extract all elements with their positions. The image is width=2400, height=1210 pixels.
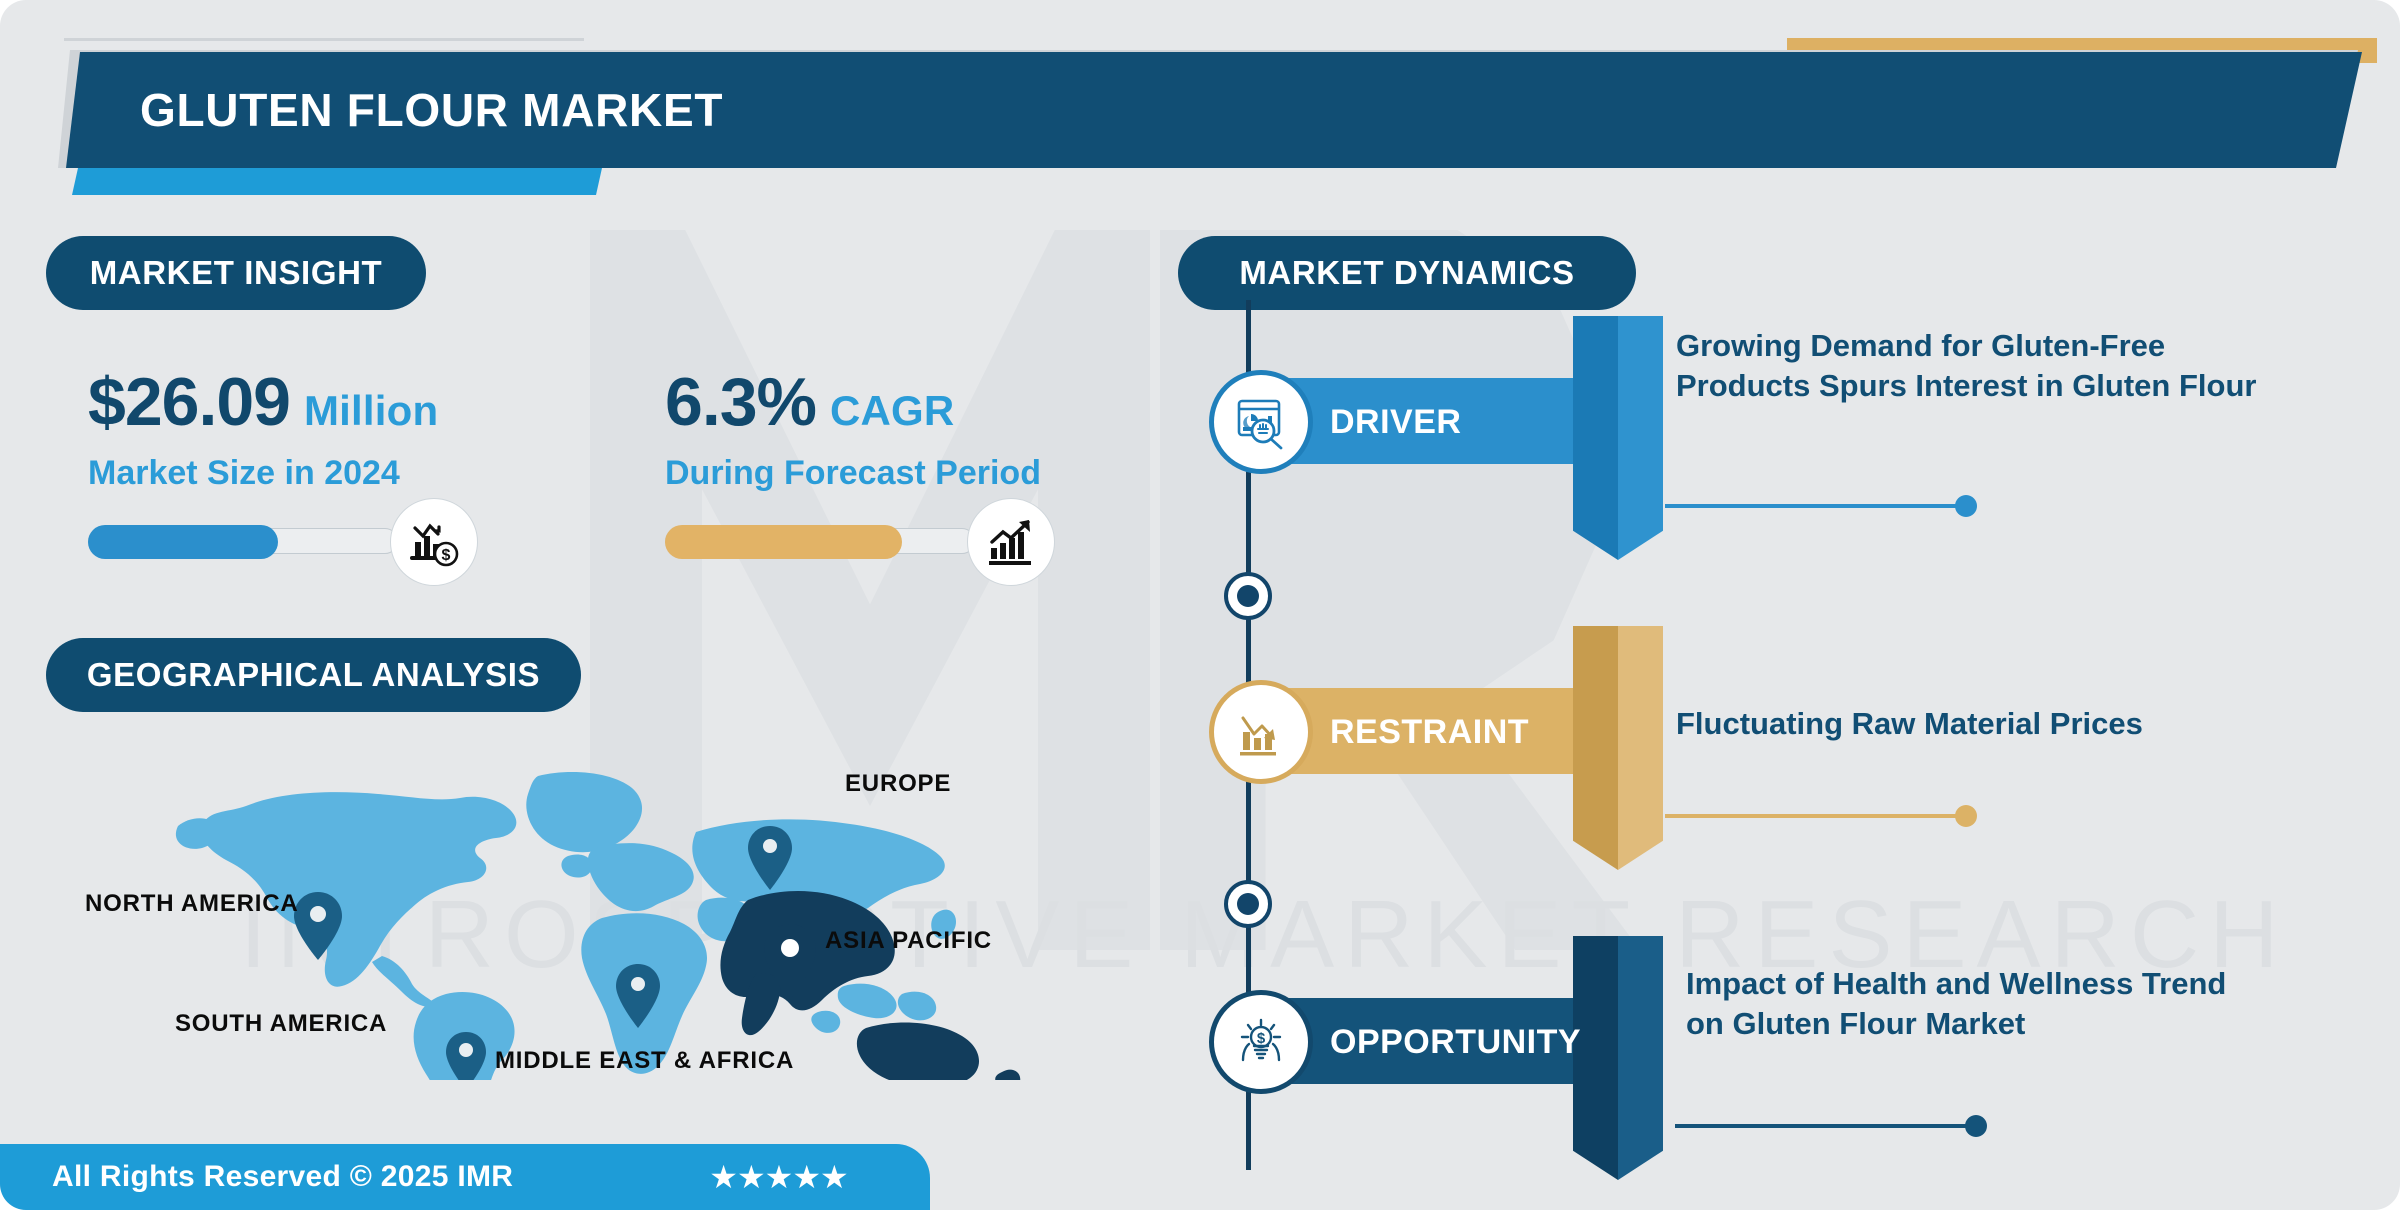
map-label-europe: EUROPE — [845, 770, 951, 798]
lightbulb-dollar-icon: $ — [1209, 990, 1313, 1094]
report-magnifier-icon — [1209, 370, 1313, 474]
kpi-market-size-value: $26.09 — [88, 364, 290, 440]
driver-description: Growing Demand for Gluten-Free Products … — [1676, 326, 2276, 407]
growth-chart-arrow-icon — [967, 498, 1055, 586]
kpi-cagr-value: 6.3% — [665, 364, 816, 440]
kpi-cagr-unit: CAGR — [830, 387, 954, 434]
map-label-middle-east-africa: MIDDLE EAST & AFRICA — [495, 1047, 794, 1075]
map-label-north-america: NORTH AMERICA — [85, 890, 299, 918]
cagr-progress-track — [665, 528, 975, 554]
restraint-rule — [1665, 814, 1965, 818]
kpi-market-size-unit: Million — [304, 387, 438, 434]
bar-chart-dollar-icon: $ — [390, 498, 478, 586]
section-heading-market-dynamics: MARKET DYNAMICS — [1178, 236, 1636, 310]
map-label-asia-pacific: ASIA PACIFIC — [825, 927, 992, 955]
restraint-arrow-chevron — [1573, 626, 1663, 870]
opportunity-label: OPPORTUNITY — [1330, 1023, 1581, 1062]
page-title: GLUTEN FLOUR MARKET — [140, 83, 723, 137]
opportunity-arrow-chevron — [1573, 936, 1663, 1180]
header-band: GLUTEN FLOUR MARKET — [66, 52, 2362, 168]
header-top-rule — [64, 38, 584, 41]
svg-text:$: $ — [442, 547, 451, 564]
copyright-text: All Rights Reserved © 2025 IMR — [52, 1160, 513, 1194]
driver-arrow-chevron — [1573, 316, 1663, 560]
timeline-node-1 — [1224, 572, 1272, 620]
driver-rule-knob — [1955, 495, 1977, 517]
kpi-cagr-caption: During Forecast Period — [665, 454, 1041, 493]
header-underline-accent — [72, 168, 602, 195]
section-heading-market-insight: MARKET INSIGHT — [46, 236, 426, 310]
infographic-page: INTROSPECTIVE MARKET RESEARCH GLUTEN FLO… — [0, 0, 2400, 1210]
restraint-description: Fluctuating Raw Material Prices — [1676, 704, 2296, 744]
cagr-progress-fill — [665, 525, 902, 559]
kpi-cagr: 6.3%CAGR During Forecast Period — [665, 368, 1041, 493]
footer-bar: All Rights Reserved © 2025 IMR ★★★★★ — [0, 1144, 930, 1210]
kpi-market-size-caption: Market Size in 2024 — [88, 454, 438, 493]
restraint-rule-knob — [1955, 805, 1977, 827]
declining-bar-chart-icon — [1209, 680, 1313, 784]
kpi-market-size: $26.09Million Market Size in 2024 — [88, 368, 438, 493]
opportunity-rule-knob — [1965, 1115, 1987, 1137]
svg-text:$: $ — [1257, 1030, 1266, 1047]
map-label-south-america: SOUTH AMERICA — [175, 1010, 387, 1038]
section-heading-geographical-analysis: GEOGRAPHICAL ANALYSIS — [46, 638, 581, 712]
timeline-node-2 — [1224, 880, 1272, 928]
driver-rule — [1665, 504, 1965, 508]
rating-stars: ★★★★★ — [709, 1158, 847, 1196]
market-size-progress-fill — [88, 525, 278, 559]
driver-label: DRIVER — [1330, 403, 1461, 442]
opportunity-rule — [1675, 1124, 1975, 1128]
restraint-label: RESTRAINT — [1330, 713, 1529, 752]
opportunity-description: Impact of Health and Wellness Trend on G… — [1686, 964, 2246, 1045]
market-size-progress-track — [88, 528, 398, 554]
